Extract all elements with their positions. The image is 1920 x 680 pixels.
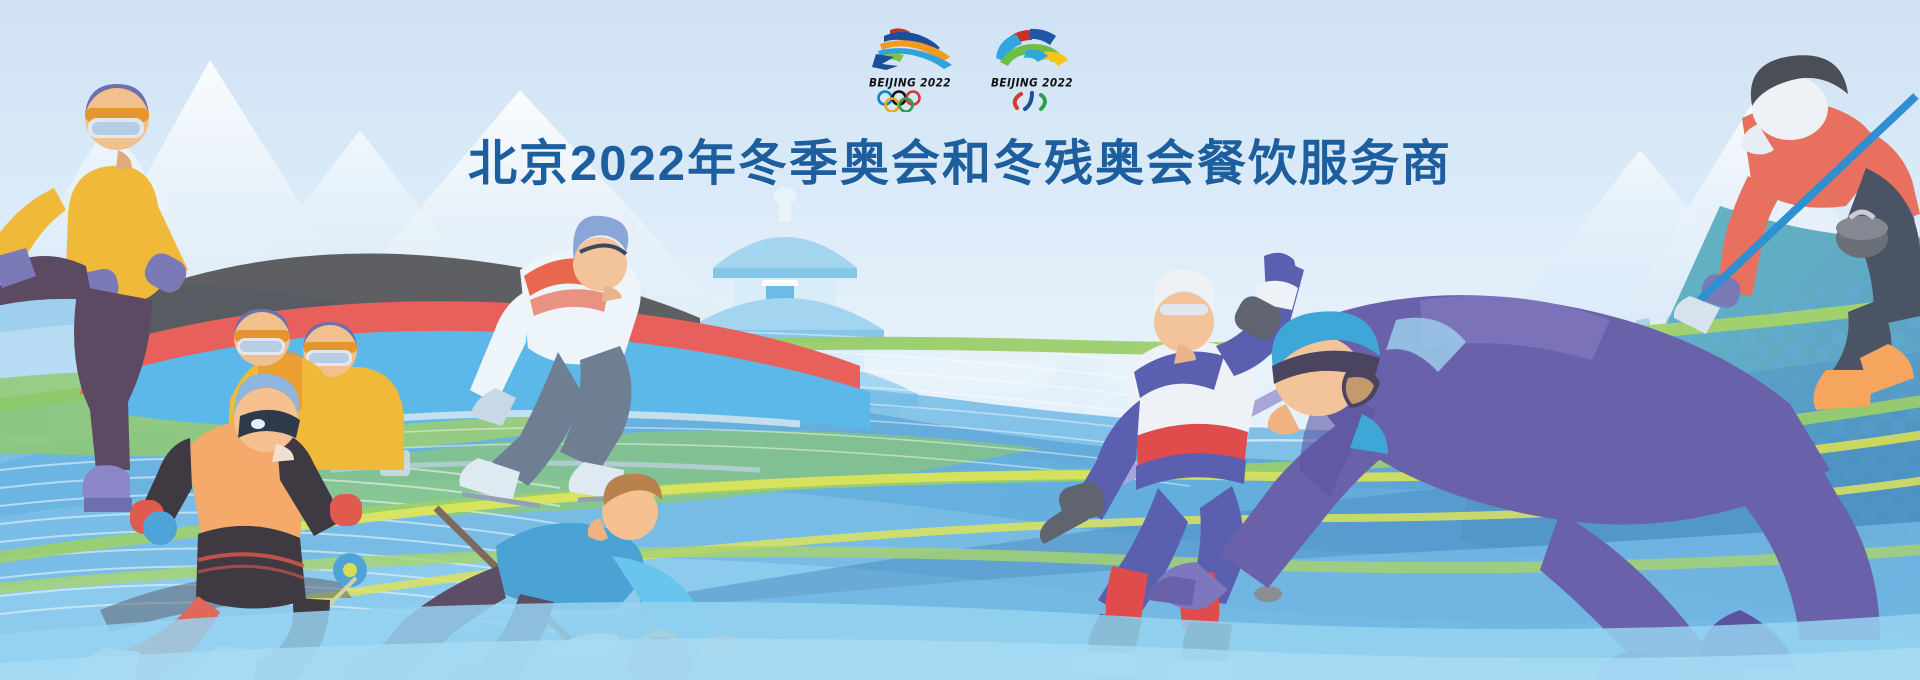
flying-high-emblem-icon xyxy=(982,24,1082,70)
olympic-rings-icon xyxy=(873,90,947,112)
olympic-wordmark: BEIJING 2022 xyxy=(860,76,960,89)
banner-title: 北京2022年冬季奥会和冬残奥会餐饮服务商 xyxy=(0,124,1920,195)
agitos-icon xyxy=(995,90,1069,112)
beijing-2022-paralympic-emblem: BEIJING 2022 xyxy=(982,24,1082,120)
winter-dream-emblem-icon xyxy=(860,24,960,70)
emblem-group: BEIJING 2022 BEIJING 2022 xyxy=(860,24,1090,120)
hockey-puck xyxy=(1254,586,1282,602)
paralympic-wordmark: BEIJING 2022 xyxy=(982,76,1082,89)
beijing-2022-olympic-emblem: BEIJING 2022 xyxy=(860,24,960,120)
olympics-banner: BEIJING 2022 BEIJING 2022 xyxy=(0,0,1920,680)
